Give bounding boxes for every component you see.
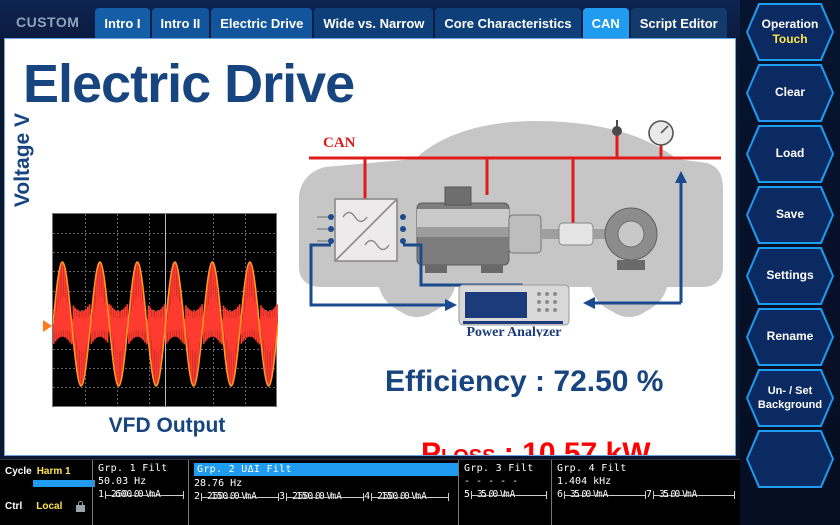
slide-canvas: Electric Drive CAN: [4, 38, 736, 456]
sidebar-button-settings[interactable]: Settings: [746, 247, 834, 305]
sidebar-button-label: Settings: [766, 269, 813, 282]
channel-row[interactable]: 1 250.0 V 600.0 mA: [98, 489, 184, 500]
sidebar-button-empty[interactable]: [746, 430, 834, 488]
tab-wide-vs-narrow[interactable]: Wide vs. Narrow: [314, 8, 433, 38]
group-4-column: Grp. 4 Filt 1.404 kHz 6 3.0 V 5.0 mA 7: [551, 460, 737, 525]
inverter-output-terminals: [400, 214, 406, 244]
sidebar-button-value: Touch: [772, 33, 807, 46]
ploss-value: : 10.57 kW: [495, 437, 650, 456]
cycle-value[interactable]: Harm 1: [37, 466, 71, 477]
efficiency-readout: Efficiency : 72.50 %: [385, 365, 663, 399]
vfd-waveform-trace: [53, 214, 278, 408]
tab-intro-ii[interactable]: Intro II: [152, 8, 210, 38]
ctrl-row: Ctrl Local: [5, 498, 88, 514]
group-2-column: Grp. 2 UΔI Filt 28.76 Hz 2 250.0 V 150.0…: [188, 460, 458, 525]
sidebar-button-label: Clear: [775, 86, 805, 99]
oscilloscope-display: [52, 213, 277, 407]
tab-core-characteristics[interactable]: Core Characteristics: [435, 8, 580, 38]
ploss-subscript: LOSS: [441, 446, 495, 456]
arrow-into-analyzer-right: [583, 297, 595, 309]
sidebar-button-label: Save: [776, 208, 804, 221]
current-value: 600.0 mA: [115, 489, 161, 500]
group-frequency: - - - - -: [464, 476, 547, 487]
power-loss-readout: PLOSS : 10.57 kW: [421, 437, 651, 456]
channel-bars: 250.0 V 150.0 mA: [371, 492, 449, 502]
sidebar-button-rename[interactable]: Rename: [746, 308, 834, 366]
cycle-progress-bar: [33, 480, 95, 487]
group-4-channels: 6 3.0 V 5.0 mA 7 3.0 V: [557, 487, 733, 500]
tab-bar: CUSTOM Intro I Intro II Electric Drive W…: [0, 0, 740, 38]
tab-electric-drive[interactable]: Electric Drive: [211, 8, 312, 38]
group-frequency: 1.404 kHz: [557, 476, 733, 487]
sidebar-button-label-2: Background: [758, 399, 822, 411]
tab-can[interactable]: CAN: [583, 8, 629, 38]
scope-x-axis-label: VFD Output: [67, 414, 267, 438]
current-value: 150.0 mA: [381, 491, 427, 502]
channel-row[interactable]: 4 250.0 V 150.0 mA: [364, 491, 449, 502]
current-value: 5.0 mA: [481, 489, 515, 500]
electric-drive-diagram: CAN: [295, 117, 725, 337]
channel-row[interactable]: 3 250.0 V 150.0 mA: [279, 491, 364, 502]
channel-number: 3: [279, 491, 285, 502]
lock-icon[interactable]: [76, 501, 85, 512]
channel-row[interactable]: 6 3.0 V 5.0 mA: [557, 489, 646, 500]
trigger-marker-icon: [43, 320, 52, 332]
group-frequency: 50.03 Hz: [98, 476, 184, 487]
group-header: Grp. 1 Filt: [98, 463, 184, 474]
ploss-prefix: P: [421, 437, 441, 456]
channel-number: 6: [557, 489, 563, 500]
channel-number: 4: [364, 491, 370, 502]
channel-row[interactable]: 5 3.0 V 5.0 mA: [464, 489, 547, 500]
arrow-into-analyzer-left: [445, 299, 457, 311]
group-frequency: 28.76 Hz: [194, 478, 454, 489]
group-2-channels: 2 250.0 V 150.0 mA 3 250.0 V: [194, 489, 454, 502]
cycle-row: Cycle Harm 1: [5, 463, 88, 479]
channel-bars: 250.0 V 150.0 mA: [201, 492, 279, 502]
sidebar-button-unset-background[interactable]: Un- / Set Background: [746, 369, 834, 427]
channel-row[interactable]: 2 250.0 V 150.0 mA: [194, 491, 279, 502]
channel-bars: 250.0 V 600.0 mA: [105, 490, 184, 500]
channel-bars: 250.0 V 150.0 mA: [286, 492, 364, 502]
can-bus-label: CAN: [323, 135, 356, 151]
group-1-column: Grp. 1 Filt 50.03 Hz 1 250.0 V 600.0 mA: [92, 460, 188, 525]
channel-bars: 3.0 V 5.0 mA: [471, 490, 547, 500]
application-window: CUSTOM Intro I Intro II Electric Drive W…: [0, 0, 840, 525]
sidebar-button-clear[interactable]: Clear: [746, 64, 834, 122]
scope-y-axis-label: Voltage V: [11, 85, 35, 235]
power-analyzer-device: [459, 285, 569, 325]
status-control-column: Cycle Harm 1 Ctrl Local: [0, 460, 92, 525]
channel-number: 2: [194, 491, 200, 502]
page-title: Electric Drive: [23, 53, 354, 115]
ctrl-value[interactable]: Local: [36, 501, 62, 512]
cycle-label: Cycle: [5, 466, 32, 477]
current-value: 150.0 mA: [296, 491, 342, 502]
channel-bars: 3.0 V 5.0 mA: [564, 490, 646, 500]
channel-number: 1: [98, 489, 104, 500]
sidebar-button-label: Operation: [762, 18, 819, 31]
sidebar-button-label: Load: [776, 147, 805, 160]
tab-intro-i[interactable]: Intro I: [95, 8, 149, 38]
sidebar-button-load[interactable]: Load: [746, 125, 834, 183]
channel-number: 5: [464, 489, 470, 500]
group-3-column: Grp. 3 Filt - - - - - 5 3.0 V 5.0 mA: [458, 460, 551, 525]
current-value: 5.0 mA: [574, 489, 608, 500]
right-sidebar: Operation Touch Clear Load Save Settings: [740, 0, 840, 525]
channel-row[interactable]: 7 3.0 V 5.0 mA: [646, 489, 735, 500]
group-header: Grp. 4 Filt: [557, 463, 733, 474]
sidebar-button-save[interactable]: Save: [746, 186, 834, 244]
group-header: Grp. 2 UΔI Filt: [194, 463, 458, 476]
current-value: 5.0 mA: [663, 489, 697, 500]
custom-label: CUSTOM: [6, 14, 93, 38]
sidebar-button-label: Un- / Set: [768, 385, 813, 397]
current-value: 150.0 mA: [211, 491, 257, 502]
channel-number: 7: [646, 489, 652, 500]
power-analyzer-label: Power Analyzer: [467, 325, 562, 337]
status-bar: Cycle Harm 1 Ctrl Local Grp. 1 Filt 50.0…: [0, 459, 740, 525]
tab-script-editor[interactable]: Script Editor: [631, 8, 727, 38]
sidebar-button-label: Rename: [767, 330, 814, 343]
ctrl-label: Ctrl: [5, 501, 22, 512]
channel-bars: 3.0 V 5.0 mA: [653, 490, 735, 500]
sidebar-button-operation-touch[interactable]: Operation Touch: [746, 3, 834, 61]
group-header: Grp. 3 Filt: [464, 463, 547, 474]
